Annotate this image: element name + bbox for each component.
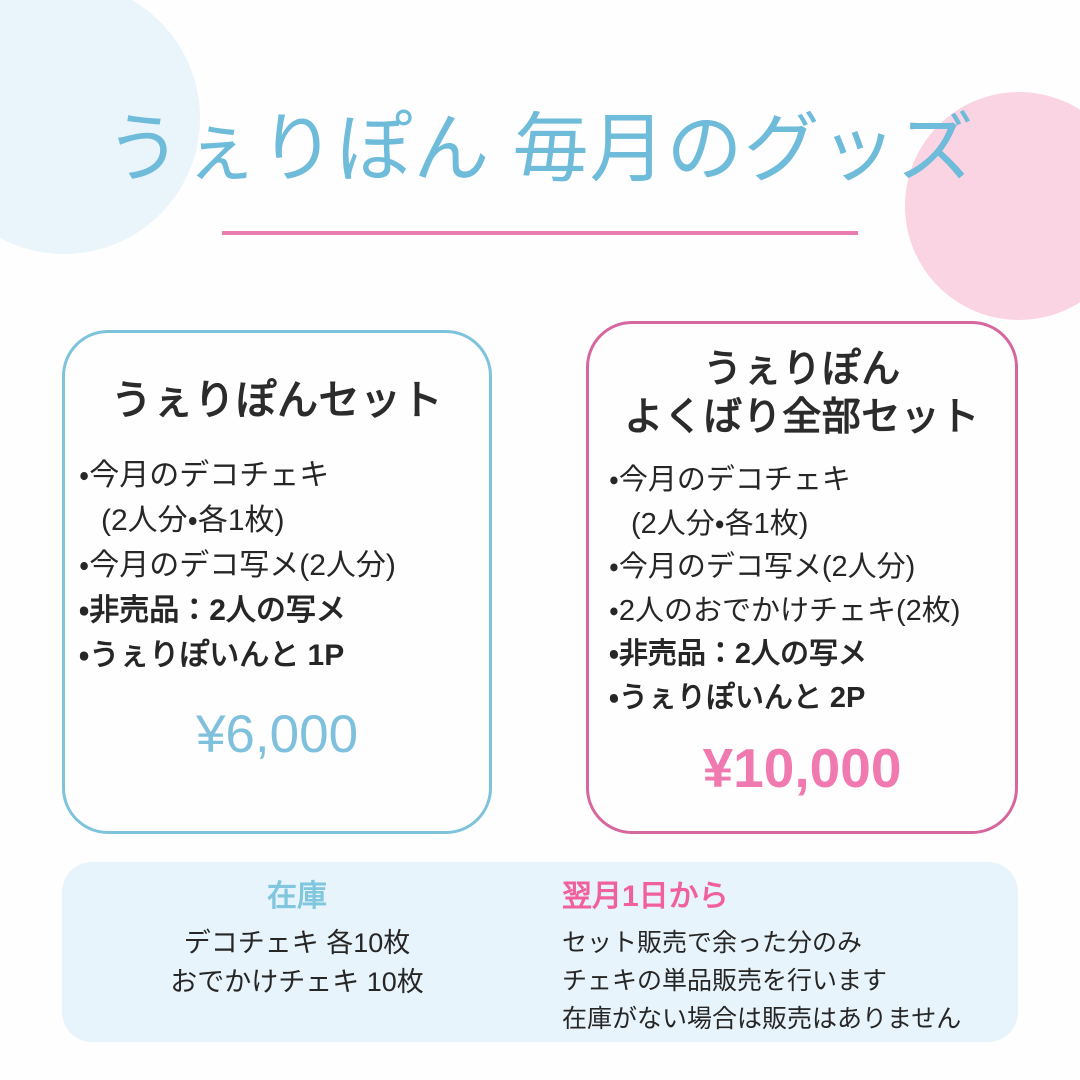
stock-line-1: デコチェキ 各10枚 (62, 924, 532, 963)
plan-feature-list-premium: ・今月のデコチェキ (2人分・各1枚) ・今月のデコ写メ(2人分) ・2人のおで… (589, 459, 1015, 720)
list-item: (2人分・各1枚) (609, 503, 1015, 547)
page-title: うぇりぽん 毎月のグッズ (0, 112, 1080, 188)
list-item: (2人分・各1枚) (79, 498, 489, 543)
list-item: ・今月のデコチェキ (609, 459, 1015, 503)
list-item: ・うぇりぽいんと 1P (79, 633, 489, 678)
list-item: ・2人のおでかけチェキ(2枚) (609, 590, 1015, 634)
poster-canvas: うぇりぽん 毎月のグッズ うぇりぽんセット ・今月のデコチェキ (2人分・各1枚… (0, 0, 1080, 1080)
plan-card-premium[interactable]: うぇりぽん よくばり全部セット ・今月のデコチェキ (2人分・各1枚) ・今月の… (586, 321, 1018, 834)
footer-section-stock: 在庫 デコチェキ 各10枚 おでかけチェキ 10枚 (62, 862, 532, 1002)
title-underline-rule (222, 231, 858, 235)
stock-lines: デコチェキ 各10枚 おでかけチェキ 10枚 (62, 924, 532, 1002)
schedule-line-3: 在庫がない場合は販売はありません (562, 1000, 1018, 1038)
footer-section-schedule: 翌月1日から セット販売で余った分のみ チェキの単品販売を行います 在庫がない場… (562, 862, 1018, 1038)
stock-line-2: おでかけチェキ 10枚 (62, 963, 532, 1002)
footer-panel: 在庫 デコチェキ 各10枚 おでかけチェキ 10枚 翌月1日から セット販売で余… (62, 862, 1018, 1042)
plan-title-basic-line-1: うぇりぽんセット (65, 375, 489, 425)
list-item: ・今月のデコチェキ (79, 453, 489, 498)
list-item: ・今月のデコ写メ(2人分) (609, 546, 1015, 590)
plan-title-premium: うぇりぽん よくばり全部セット (589, 346, 1015, 441)
schedule-lines: セット販売で余った分のみ チェキの単品販売を行います 在庫がない場合は販売はあり… (562, 924, 1018, 1038)
plan-title-premium-line-2: よくばり全部セット (589, 394, 1015, 442)
plan-title-premium-line-1: うぇりぽん (589, 346, 1015, 394)
plan-card-basic[interactable]: うぇりぽんセット ・今月のデコチェキ (2人分・各1枚) ・今月のデコ写メ(2人… (62, 330, 492, 834)
schedule-line-1: セット販売で余った分のみ (562, 924, 1018, 962)
list-item: ・今月のデコ写メ(2人分) (79, 543, 489, 588)
list-item: ・非売品：2人の写メ (79, 588, 489, 633)
schedule-line-2: チェキの単品販売を行います (562, 962, 1018, 1000)
plan-price-premium: ¥10,000 (589, 736, 1015, 800)
schedule-heading: 翌月1日から (562, 876, 1018, 918)
plan-title-basic: うぇりぽんセット (65, 375, 489, 425)
plan-feature-list-basic: ・今月のデコチェキ (2人分・各1枚) ・今月のデコ写メ(2人分) ・非売品：2… (65, 453, 489, 678)
list-item: ・非売品：2人の写メ (609, 633, 1015, 677)
header: うぇりぽん 毎月のグッズ (0, 112, 1080, 188)
stock-heading: 在庫 (62, 876, 532, 918)
list-item: ・うぇりぽいんと 2P (609, 677, 1015, 721)
plan-price-basic: ¥6,000 (65, 704, 489, 765)
